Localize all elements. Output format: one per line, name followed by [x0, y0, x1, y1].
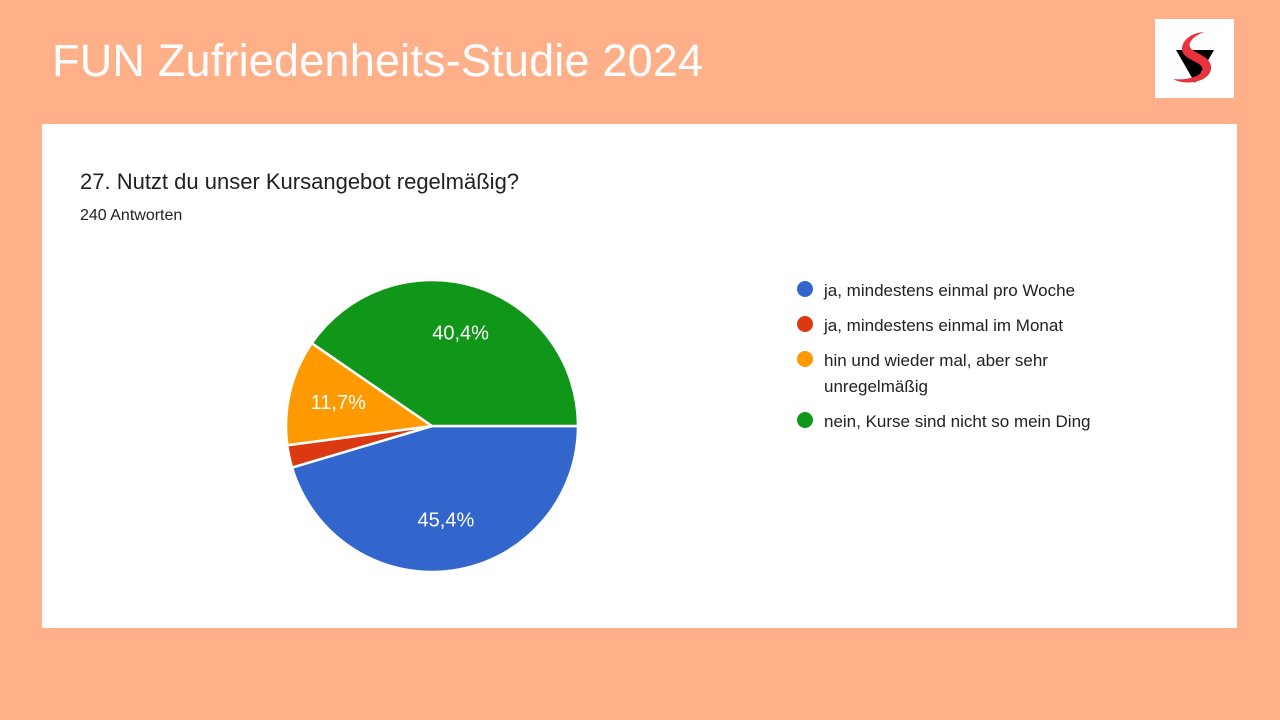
chart-card: 27. Nutzt du unser Kursangebot regelmäßi…	[42, 124, 1237, 628]
legend-item[interactable]: ja, mindestens einmal pro Woche	[797, 278, 1197, 304]
legend-bullet-icon	[797, 351, 813, 367]
logo-mark	[1166, 28, 1224, 90]
legend-bullet-icon	[797, 316, 813, 332]
legend-bullet-icon	[797, 412, 813, 428]
pie-slice-label: 40,4%	[432, 322, 489, 344]
legend-item[interactable]: hin und wieder mal, aber sehr unregelmäß…	[797, 348, 1197, 400]
pie-chart: 45,4%11,7%40,4%	[285, 279, 579, 573]
legend-bullet-icon	[797, 281, 813, 297]
slide-root: FUN Zufriedenheits-Studie 2024 27. Nutzt…	[0, 0, 1280, 720]
legend-item-label: hin und wieder mal, aber sehr unregelmäß…	[824, 348, 1144, 400]
chart-legend: ja, mindestens einmal pro Wocheja, minde…	[797, 278, 1197, 444]
answer-count: 240 Antworten	[80, 205, 182, 227]
company-logo	[1155, 19, 1234, 98]
legend-item-label: ja, mindestens einmal pro Woche	[824, 278, 1075, 304]
page-title: FUN Zufriedenheits-Studie 2024	[52, 33, 703, 89]
legend-item[interactable]: ja, mindestens einmal im Monat	[797, 313, 1197, 339]
question-title: 27. Nutzt du unser Kursangebot regelmäßi…	[80, 168, 519, 196]
pie-chart-svg: 45,4%11,7%40,4%	[285, 279, 579, 573]
pie-slice-label: 11,7%	[311, 392, 366, 414]
legend-item-label: nein, Kurse sind nicht so mein Ding	[824, 409, 1090, 435]
legend-item[interactable]: nein, Kurse sind nicht so mein Ding	[797, 409, 1197, 435]
legend-item-label: ja, mindestens einmal im Monat	[824, 313, 1063, 339]
pie-slice-label: 45,4%	[418, 510, 475, 532]
